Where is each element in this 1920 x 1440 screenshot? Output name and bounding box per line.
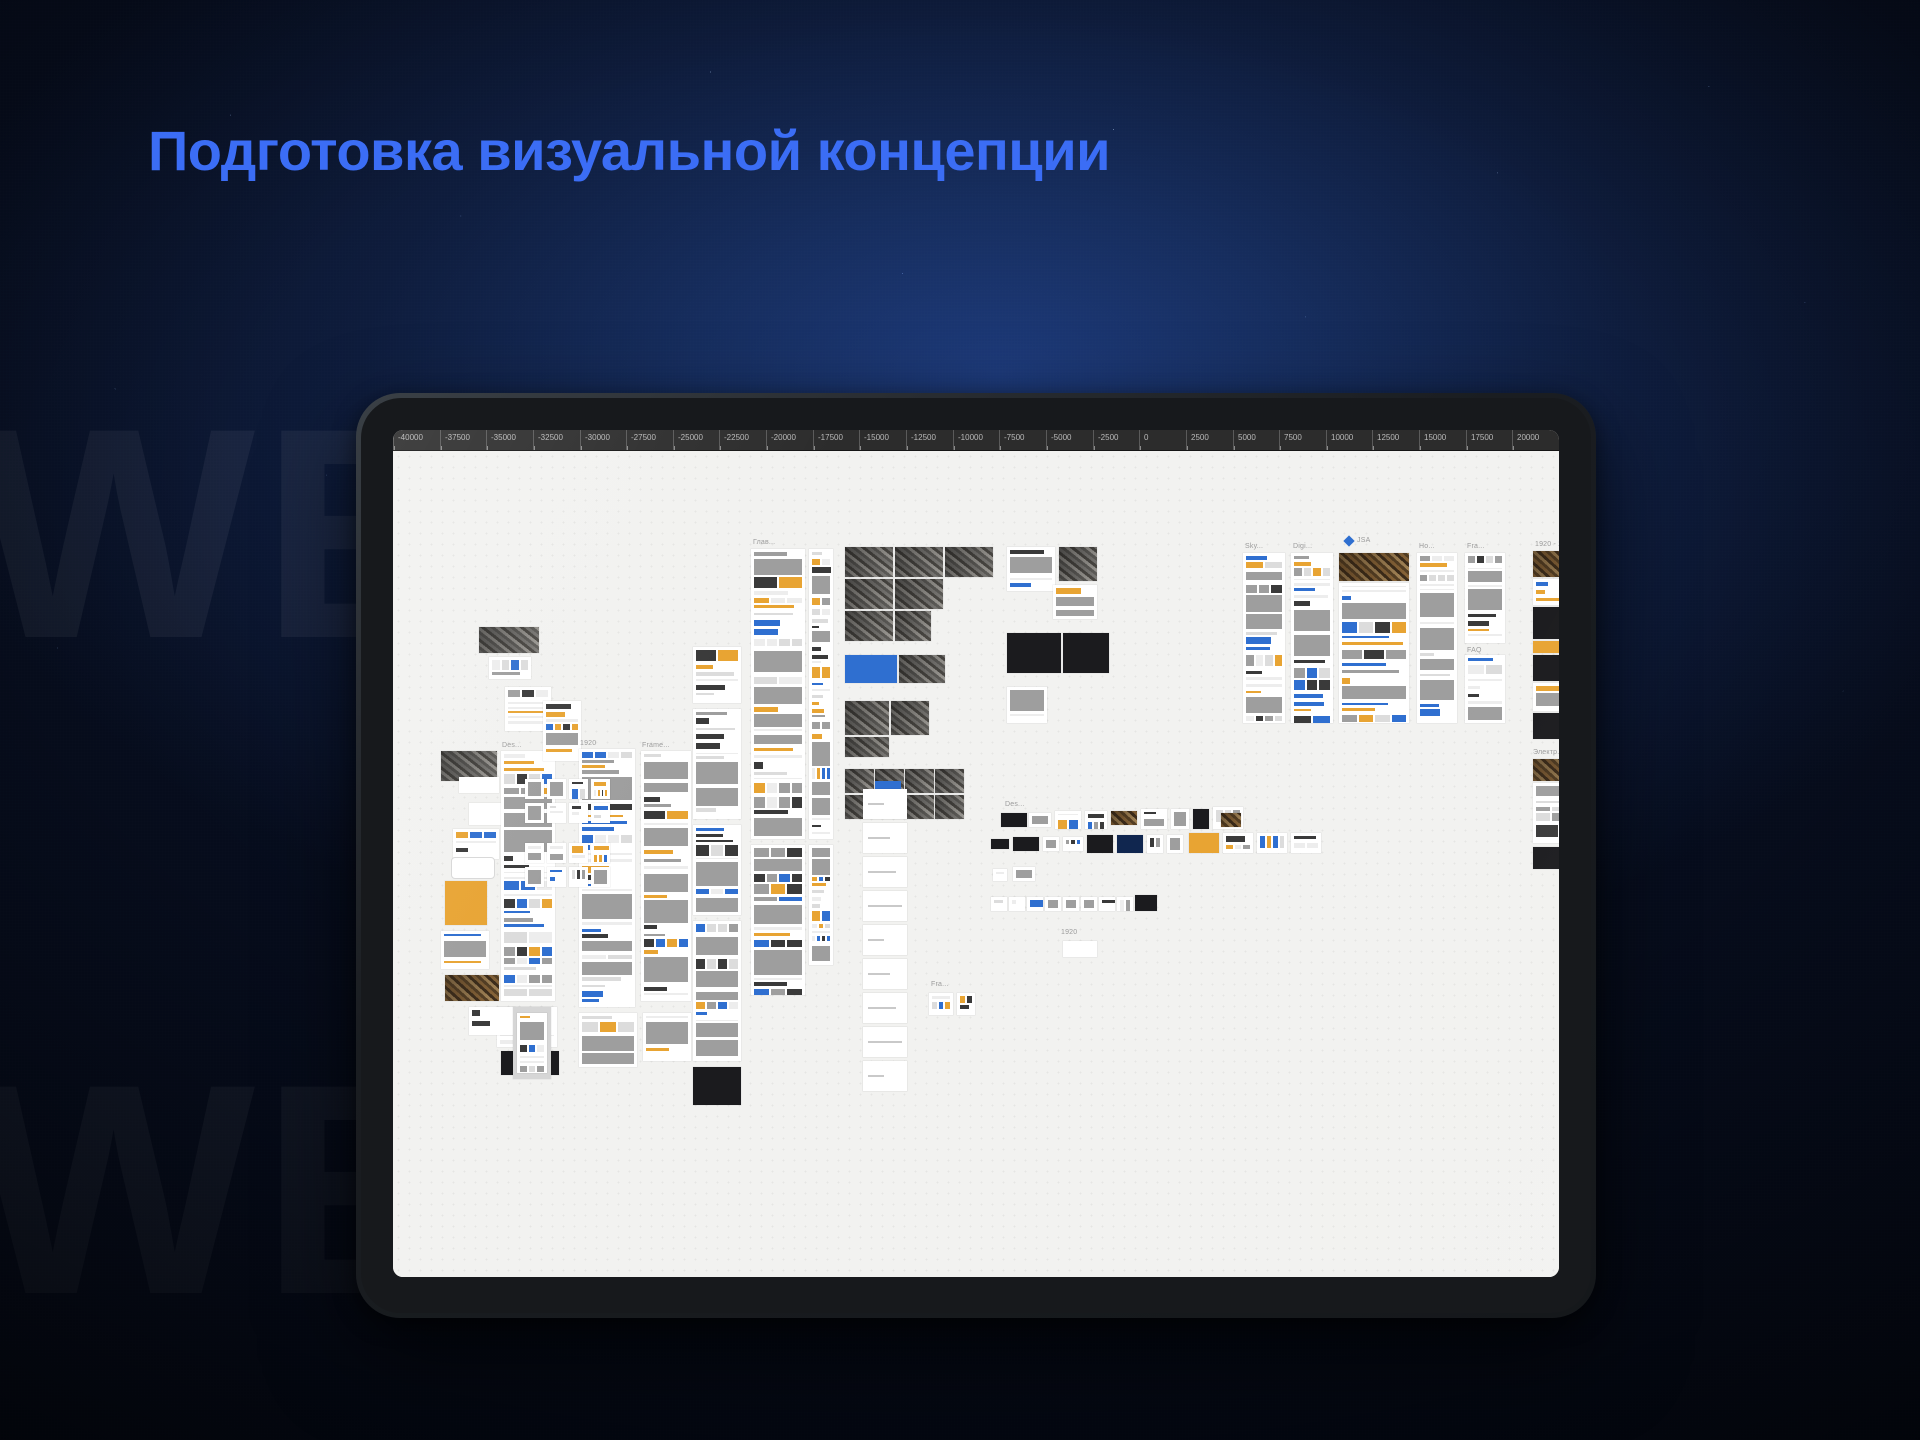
- figma-frame[interactable]: [935, 769, 964, 793]
- figma-frame[interactable]: [1291, 833, 1321, 853]
- frame-content-block: [1536, 825, 1558, 836]
- figma-frame-label[interactable]: JSA: [1357, 537, 1370, 544]
- figma-frame[interactable]: [693, 709, 741, 819]
- figma-frame[interactable]: [479, 627, 539, 653]
- frame-content-block: [644, 783, 688, 792]
- frame-content-block: [582, 955, 606, 960]
- frame-content-block: [572, 870, 575, 879]
- figma-frame[interactable]: [1063, 837, 1083, 851]
- frame-content-block: [729, 924, 738, 932]
- frame-content-block: [754, 559, 802, 575]
- figma-frame-label[interactable]: Digi...: [1293, 543, 1312, 550]
- frame-content-block: [550, 811, 563, 813]
- frame-content-block: [621, 835, 632, 843]
- frame-content-block: [754, 591, 788, 594]
- figma-frame[interactable]: [1059, 547, 1097, 581]
- frame-content-block: [1246, 614, 1282, 629]
- figma-frame[interactable]: [993, 869, 1007, 881]
- figma-frame[interactable]: [895, 547, 943, 577]
- frame-content-block: [754, 859, 802, 871]
- figma-frame-label[interactable]: Sky...: [1245, 543, 1263, 550]
- figma-frame[interactable]: [1001, 813, 1027, 827]
- figma-frame[interactable]: [1243, 553, 1285, 723]
- figma-frame[interactable]: [1257, 833, 1287, 853]
- figma-frame[interactable]: [935, 795, 964, 819]
- figma-frame[interactable]: [547, 843, 566, 863]
- figma-frame[interactable]: [569, 803, 588, 823]
- frame-content-block: [582, 752, 593, 758]
- figma-frame[interactable]: [1099, 897, 1115, 911]
- frame-content-block: [792, 874, 803, 882]
- figma-frame[interactable]: [1111, 811, 1137, 825]
- frame-content-block: [1294, 635, 1330, 656]
- frame-content-block: [754, 778, 802, 779]
- frame-content-block: [1294, 588, 1315, 591]
- figma-frame[interactable]: [1171, 809, 1189, 829]
- figma-frame[interactable]: [1063, 941, 1097, 957]
- frame-content-block: [582, 962, 632, 975]
- figma-frame[interactable]: [547, 803, 566, 823]
- figma-frame[interactable]: [845, 737, 889, 757]
- frame-content-block: [1364, 650, 1384, 660]
- frame-content-block: [1275, 655, 1283, 666]
- frame-content-block: [1536, 693, 1559, 706]
- ruler-tick: 15000: [1419, 430, 1420, 451]
- figma-frame[interactable]: [1007, 633, 1061, 673]
- figma-frame[interactable]: [1007, 547, 1055, 591]
- frame-content-block: [504, 911, 530, 914]
- figma-frame[interactable]: [845, 579, 893, 609]
- figma-frame[interactable]: [445, 975, 499, 1001]
- frame-content-block: [1342, 590, 1406, 592]
- frame-content-block: [1468, 701, 1502, 704]
- frame-content-block: [1420, 659, 1454, 669]
- frame-content-block: [600, 1022, 616, 1032]
- figma-frame-label[interactable]: Frame...: [642, 742, 670, 749]
- figma-frame[interactable]: [569, 843, 588, 863]
- list-item[interactable]: [863, 925, 907, 955]
- frame-content-block: [1170, 838, 1180, 850]
- figma-frame[interactable]: [693, 921, 741, 1061]
- figma-frame[interactable]: [517, 1013, 547, 1073]
- figma-frame-label[interactable]: Ho...: [1419, 543, 1435, 550]
- frame-content-block: [696, 1040, 738, 1056]
- frame-content-block: [945, 1002, 950, 1008]
- figma-frame[interactable]: [441, 931, 489, 969]
- frame-content-block: [812, 722, 820, 729]
- tablet-device-mockup: -40000-37500-35000-32500-30000-27500-250…: [356, 393, 1596, 1318]
- figma-frame[interactable]: [591, 867, 610, 887]
- frame-content-block: [582, 894, 632, 919]
- frame-content-block: [1342, 636, 1389, 638]
- frame-content-block: [729, 959, 738, 969]
- figma-frame[interactable]: [1533, 655, 1559, 681]
- frame-content-block: [582, 765, 605, 768]
- figma-frame[interactable]: [1465, 553, 1505, 643]
- figma-frame[interactable]: [1087, 835, 1113, 853]
- figma-frame[interactable]: [845, 701, 889, 735]
- frame-content-block: [812, 890, 824, 893]
- frame-content-block: [1429, 575, 1436, 581]
- figma-frame[interactable]: [1465, 655, 1505, 723]
- frame-content-block: [520, 1066, 527, 1072]
- frame-content-block: [1486, 556, 1493, 563]
- figma-frame[interactable]: [525, 843, 544, 863]
- figma-frame[interactable]: [1533, 641, 1559, 653]
- figma-frame[interactable]: [1043, 837, 1059, 851]
- figma-frame[interactable]: [1533, 579, 1559, 605]
- frame-content-block: [711, 845, 724, 856]
- frame-content-block: [696, 808, 716, 811]
- frame-content-block: [1486, 665, 1502, 674]
- figma-frame[interactable]: [1117, 835, 1143, 853]
- figma-frame[interactable]: [1533, 759, 1559, 781]
- figma-frame[interactable]: [547, 779, 566, 799]
- frame-content-block: [767, 797, 778, 809]
- figma-frame[interactable]: [751, 845, 805, 995]
- frame-content-block: [1468, 634, 1502, 636]
- frame-content-block: [582, 985, 605, 987]
- list-item[interactable]: [863, 959, 907, 989]
- figma-frame[interactable]: [1339, 553, 1409, 581]
- figma-frame[interactable]: [1193, 809, 1209, 829]
- frame-content-block: [1246, 691, 1261, 694]
- figma-frame[interactable]: [459, 777, 499, 793]
- frame-content-block: [1536, 686, 1559, 691]
- figma-frame[interactable]: [1417, 553, 1457, 723]
- frame-content-block: [932, 996, 950, 999]
- ruler-tick: -40000: [393, 430, 394, 451]
- frame-content-block: [528, 806, 541, 820]
- figma-frame[interactable]: [1291, 553, 1333, 723]
- frame-content-block: [550, 877, 555, 881]
- frame-content-block: [542, 958, 553, 964]
- figma-frame[interactable]: [905, 769, 934, 793]
- ruler-tick-label: -12500: [911, 433, 936, 442]
- frame-content-block: [582, 1016, 612, 1019]
- figma-frame[interactable]: [445, 881, 487, 925]
- figma-frame[interactable]: [905, 795, 934, 819]
- frame-content-block: [542, 975, 553, 983]
- figma-frame[interactable]: [1135, 895, 1157, 911]
- ruler-tick-label: -22500: [724, 433, 749, 442]
- figma-frame[interactable]: [1533, 783, 1559, 843]
- figma-frame[interactable]: [453, 829, 499, 859]
- figma-frame[interactable]: [525, 867, 544, 887]
- list-item[interactable]: [863, 789, 907, 819]
- figma-frame-label[interactable]: Fra...: [931, 981, 949, 988]
- frame-content-block: [621, 752, 632, 758]
- frame-content-block: [696, 828, 724, 831]
- frame-content-block: [1392, 715, 1407, 722]
- frame-content-block: [504, 768, 544, 771]
- frame-content-block: [1420, 653, 1434, 656]
- figma-frame[interactable]: [1533, 713, 1559, 739]
- frame-content-block: [754, 629, 778, 635]
- ruler-tick: -27500: [626, 430, 627, 451]
- frame-content-block: [696, 693, 714, 695]
- list-item[interactable]: [863, 1027, 907, 1057]
- figma-frame[interactable]: [641, 751, 691, 1001]
- frame-content-block: [472, 1010, 480, 1016]
- frame-content-block: [582, 889, 632, 891]
- frame-content-block: [754, 577, 777, 588]
- frame-content-block: [504, 958, 515, 964]
- frame-content-block: [594, 790, 596, 796]
- figma-frame[interactable]: [899, 655, 945, 683]
- figma-frame-label[interactable]: Des...: [1005, 801, 1024, 808]
- frame-content-block: [822, 598, 830, 605]
- frame-content-block: [644, 925, 657, 929]
- frame-content-block: [608, 804, 632, 811]
- frame-content-block: [725, 845, 738, 856]
- frame-content-block: [1468, 571, 1502, 581]
- frame-content-block: [754, 940, 769, 947]
- frame-content-block: [754, 933, 790, 936]
- figma-frame[interactable]: [643, 1013, 691, 1061]
- figma-frame[interactable]: [957, 993, 975, 1015]
- frame-content-block: [1432, 556, 1442, 561]
- frame-content-block: [504, 967, 536, 970]
- frame-content-block: [644, 797, 660, 801]
- figma-frame[interactable]: [1533, 607, 1559, 639]
- frame-content-block: [1256, 716, 1264, 721]
- figma-frame[interactable]: [693, 1067, 741, 1105]
- figma-frame-label[interactable]: 1920 - 2: [1535, 541, 1559, 548]
- frame-content-block: [644, 762, 688, 779]
- figma-frame[interactable]: [895, 611, 931, 641]
- frame-content-block: [492, 672, 520, 675]
- figma-frame[interactable]: [525, 779, 544, 799]
- figma-frame[interactable]: [895, 579, 943, 609]
- frame-content-block: [572, 806, 581, 809]
- frame-content-block: [812, 818, 830, 820]
- figma-frame[interactable]: [945, 547, 993, 577]
- frame-content-block: [595, 835, 606, 843]
- frame-content-block: [812, 661, 821, 663]
- frame-content-block: [529, 947, 540, 956]
- figma-frame[interactable]: [569, 779, 588, 799]
- figma-frame[interactable]: [1045, 897, 1061, 911]
- ruler-tick-label: -10000: [958, 433, 983, 442]
- frame-content-block: [812, 904, 820, 907]
- figma-frame[interactable]: [543, 701, 581, 761]
- list-item[interactable]: [863, 823, 907, 853]
- frame-content-block: [550, 782, 563, 796]
- figma-frame[interactable]: [591, 803, 610, 823]
- figma-frame[interactable]: [693, 647, 741, 703]
- frame-content-block: [1144, 812, 1156, 814]
- frame-content-block: [696, 845, 709, 856]
- figma-frame[interactable]: [1141, 809, 1167, 829]
- figma-frame[interactable]: [809, 845, 833, 965]
- ruler-tick: -7500: [999, 430, 1000, 451]
- figma-frame[interactable]: [845, 547, 893, 577]
- figma-frame[interactable]: [1029, 813, 1051, 827]
- figma-frame[interactable]: [1167, 835, 1183, 853]
- frame-content-block: [812, 782, 830, 795]
- ruler-tick: 5000: [1233, 430, 1234, 451]
- frame-content-block: [696, 753, 738, 754]
- frame-content-block: [1100, 822, 1104, 829]
- figma-frame[interactable]: [1055, 811, 1081, 829]
- figma-frame[interactable]: [1007, 687, 1047, 723]
- figma-frame[interactable]: [1009, 897, 1025, 911]
- frame-content-block: [1552, 807, 1559, 811]
- frame-content-block: [1342, 586, 1406, 587]
- frame-content-block: [1342, 670, 1399, 674]
- figma-frame[interactable]: [1339, 583, 1409, 723]
- figma-frame[interactable]: [1117, 897, 1133, 911]
- figma-frame[interactable]: [1085, 811, 1107, 829]
- frame-content-block: [572, 855, 585, 857]
- frame-content-block: [812, 877, 817, 881]
- frame-content-block: [1069, 820, 1078, 829]
- frame-content-block: [1144, 819, 1164, 826]
- frame-content-block: [1084, 900, 1094, 908]
- figma-frame[interactable]: [489, 657, 531, 679]
- ruler-tick: -37500: [440, 430, 441, 451]
- frame-content-block: [1120, 900, 1124, 911]
- figma-frame[interactable]: [1147, 835, 1163, 853]
- frame-content-block: [771, 884, 786, 893]
- frame-content-block: [1150, 838, 1154, 847]
- figma-frame-label[interactable]: 1920: [1061, 929, 1077, 936]
- frame-content-block: [696, 937, 738, 955]
- figma-frame[interactable]: [1533, 551, 1559, 577]
- frame-content-block: [599, 855, 602, 862]
- frame-content-block: [667, 811, 688, 819]
- figma-frame-label[interactable]: Глав...: [753, 539, 775, 546]
- figma-frame[interactable]: [547, 867, 566, 887]
- figma-frame[interactable]: [751, 549, 805, 839]
- frame-content-block: [1094, 822, 1098, 829]
- figma-frame[interactable]: [845, 611, 893, 641]
- frame-content-block: [812, 689, 830, 691]
- frame-content-block: [1468, 658, 1493, 661]
- figma-frame[interactable]: [569, 867, 588, 887]
- frame-content-block: [1294, 702, 1324, 706]
- ruler-tick-label: 2500: [1191, 433, 1209, 442]
- frame-content-block: [1294, 668, 1305, 678]
- figma-frame[interactable]: [1533, 847, 1559, 869]
- frame-content-block: [812, 626, 819, 628]
- frame-content-block: [812, 936, 815, 941]
- frame-content-block: [696, 898, 738, 912]
- figma-frame[interactable]: [1533, 683, 1559, 711]
- list-item[interactable]: [863, 993, 907, 1023]
- figma-frame[interactable]: [525, 803, 544, 823]
- figma-frame[interactable]: [1221, 813, 1241, 827]
- figma-frame[interactable]: [591, 843, 610, 863]
- frame-content-block: [528, 870, 541, 884]
- figma-frame[interactable]: [1013, 867, 1035, 881]
- figma-frame[interactable]: [845, 655, 897, 683]
- frame-content-block: [644, 900, 688, 923]
- frame-content-block: [644, 874, 688, 893]
- frame-content-block: [822, 911, 830, 920]
- frame-content-block: [604, 855, 607, 862]
- frame-content-block: [779, 797, 790, 809]
- frame-content-block: [812, 695, 823, 697]
- frame-content-block: [508, 702, 548, 704]
- frame-content-block: [644, 804, 671, 807]
- frame-content-block: [1294, 556, 1309, 559]
- frame-content-block: [754, 748, 793, 751]
- figma-frame[interactable]: [591, 779, 610, 799]
- list-item[interactable]: [863, 891, 907, 921]
- frame-content-block: [537, 1066, 544, 1072]
- figma-sticky-note[interactable]: [451, 857, 495, 879]
- figma-frame[interactable]: [1027, 897, 1043, 911]
- figma-horizontal-ruler[interactable]: -40000-37500-35000-32500-30000-27500-250…: [393, 430, 1559, 451]
- frame-content-block: [754, 978, 802, 980]
- figma-frame[interactable]: [1063, 633, 1109, 673]
- frame-content-block: [644, 957, 688, 982]
- figma-frame[interactable]: [469, 1007, 515, 1035]
- figma-canvas[interactable]: Des...1920Frame...Глав...Sky...Digi...JS…: [393, 451, 1559, 1277]
- figma-frame[interactable]: [809, 549, 833, 839]
- figma-frame[interactable]: [1189, 833, 1219, 853]
- figma-frame-label[interactable]: 1920: [580, 740, 596, 747]
- frame-content-block: [608, 835, 619, 843]
- frame-content-block: [529, 1066, 536, 1072]
- ruler-tick-label: 12500: [1377, 433, 1399, 442]
- frame-content-block: [754, 755, 802, 757]
- frame-content-block: [1265, 562, 1282, 569]
- figma-frame[interactable]: [579, 1013, 637, 1067]
- list-item[interactable]: [863, 1061, 907, 1091]
- figma-frame[interactable]: [929, 993, 953, 1015]
- frame-content-block: [582, 977, 621, 981]
- figma-frame[interactable]: [1081, 897, 1097, 911]
- figma-frame-label[interactable]: Fra...: [1467, 543, 1485, 550]
- frame-content-block: [711, 889, 724, 893]
- frame-content-block: [546, 724, 553, 730]
- figma-frame[interactable]: [991, 839, 1009, 849]
- frame-content-block: [932, 1002, 937, 1008]
- frame-content-block: [529, 975, 540, 983]
- list-item[interactable]: [863, 857, 907, 887]
- figma-frame-label[interactable]: Электр...: [1533, 749, 1559, 756]
- figma-frame[interactable]: [1053, 585, 1097, 619]
- figma-frame[interactable]: [891, 701, 929, 735]
- figma-frame[interactable]: [1013, 837, 1039, 851]
- frame-content-block: [504, 947, 515, 956]
- figma-frame-label[interactable]: Des...: [502, 742, 521, 749]
- frame-content-block: [1271, 585, 1282, 593]
- figma-frame[interactable]: [991, 897, 1007, 911]
- figma-frame[interactable]: [693, 825, 741, 915]
- frame-content-block: [754, 605, 794, 608]
- frame-content-block: [1058, 814, 1078, 815]
- ruler-tick-label: 17500: [1471, 433, 1493, 442]
- frame-content-block: [696, 834, 723, 837]
- frame-content-block: [546, 733, 578, 745]
- frame-content-block: [754, 810, 788, 814]
- ruler-tick: 2500: [1186, 430, 1187, 451]
- figma-frame[interactable]: [1223, 833, 1253, 853]
- frame-content-block: [582, 934, 608, 939]
- figma-frame[interactable]: [1063, 897, 1079, 911]
- frame-content-block: [582, 770, 619, 774]
- frame-content-block: [696, 889, 709, 893]
- frame-content-block: [754, 982, 787, 986]
- frame-content-block: [582, 1036, 634, 1050]
- ruler-tick: -25000: [673, 430, 674, 451]
- frame-content-block: [572, 789, 578, 799]
- figma-frame-label[interactable]: FAQ: [1467, 647, 1482, 654]
